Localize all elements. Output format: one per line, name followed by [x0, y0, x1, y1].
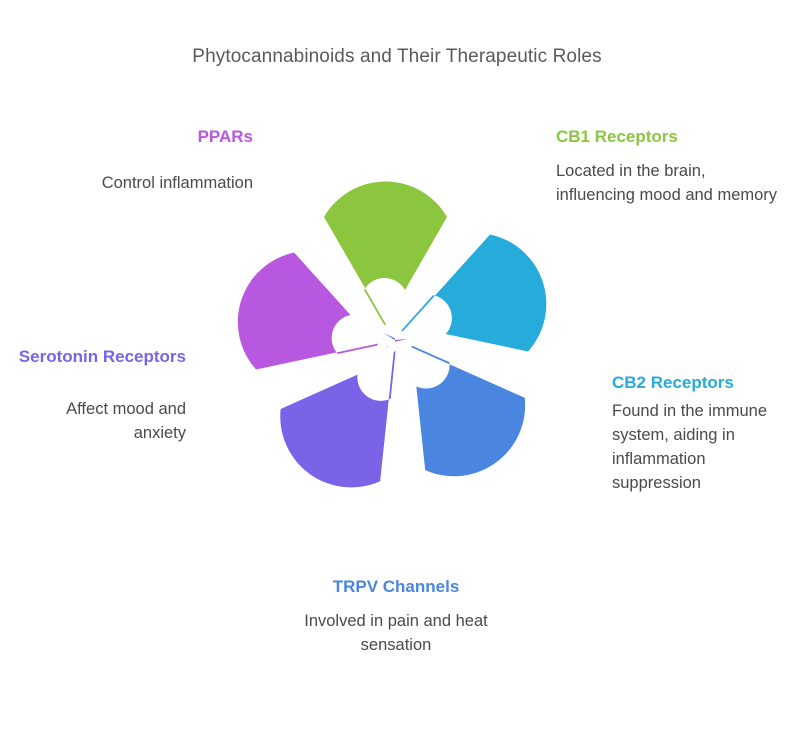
node-cb1: CB1 Receptors Located in the brain, infl… [556, 126, 781, 207]
node-cb1-heading: CB1 Receptors [556, 126, 781, 147]
knot-svg [195, 140, 595, 540]
node-serotonin-description: Affect mood and anxiety [10, 397, 186, 445]
node-cb2: CB2 Receptors Found in the immune system… [612, 372, 790, 495]
node-ppars-description: Control inflammation [18, 171, 253, 195]
node-cb1-description: Located in the brain, influencing mood a… [556, 159, 781, 207]
node-trpv: TRPV Channels Involved in pain and heat … [282, 576, 510, 657]
node-cb2-heading: CB2 Receptors [612, 372, 790, 393]
node-serotonin: Serotonin Receptors Affect mood and anxi… [10, 346, 186, 445]
node-trpv-heading: TRPV Channels [282, 576, 510, 597]
node-trpv-description: Involved in pain and heat sensation [282, 609, 510, 657]
node-ppars: PPARs Control inflammation [18, 126, 253, 195]
knot-diagram [195, 140, 595, 540]
node-cb2-description: Found in the immune system, aiding in in… [612, 399, 790, 495]
page-title: Phytocannabinoids and Their Therapeutic … [0, 46, 794, 68]
node-serotonin-heading: Serotonin Receptors [10, 346, 186, 367]
node-ppars-heading: PPARs [18, 126, 253, 147]
